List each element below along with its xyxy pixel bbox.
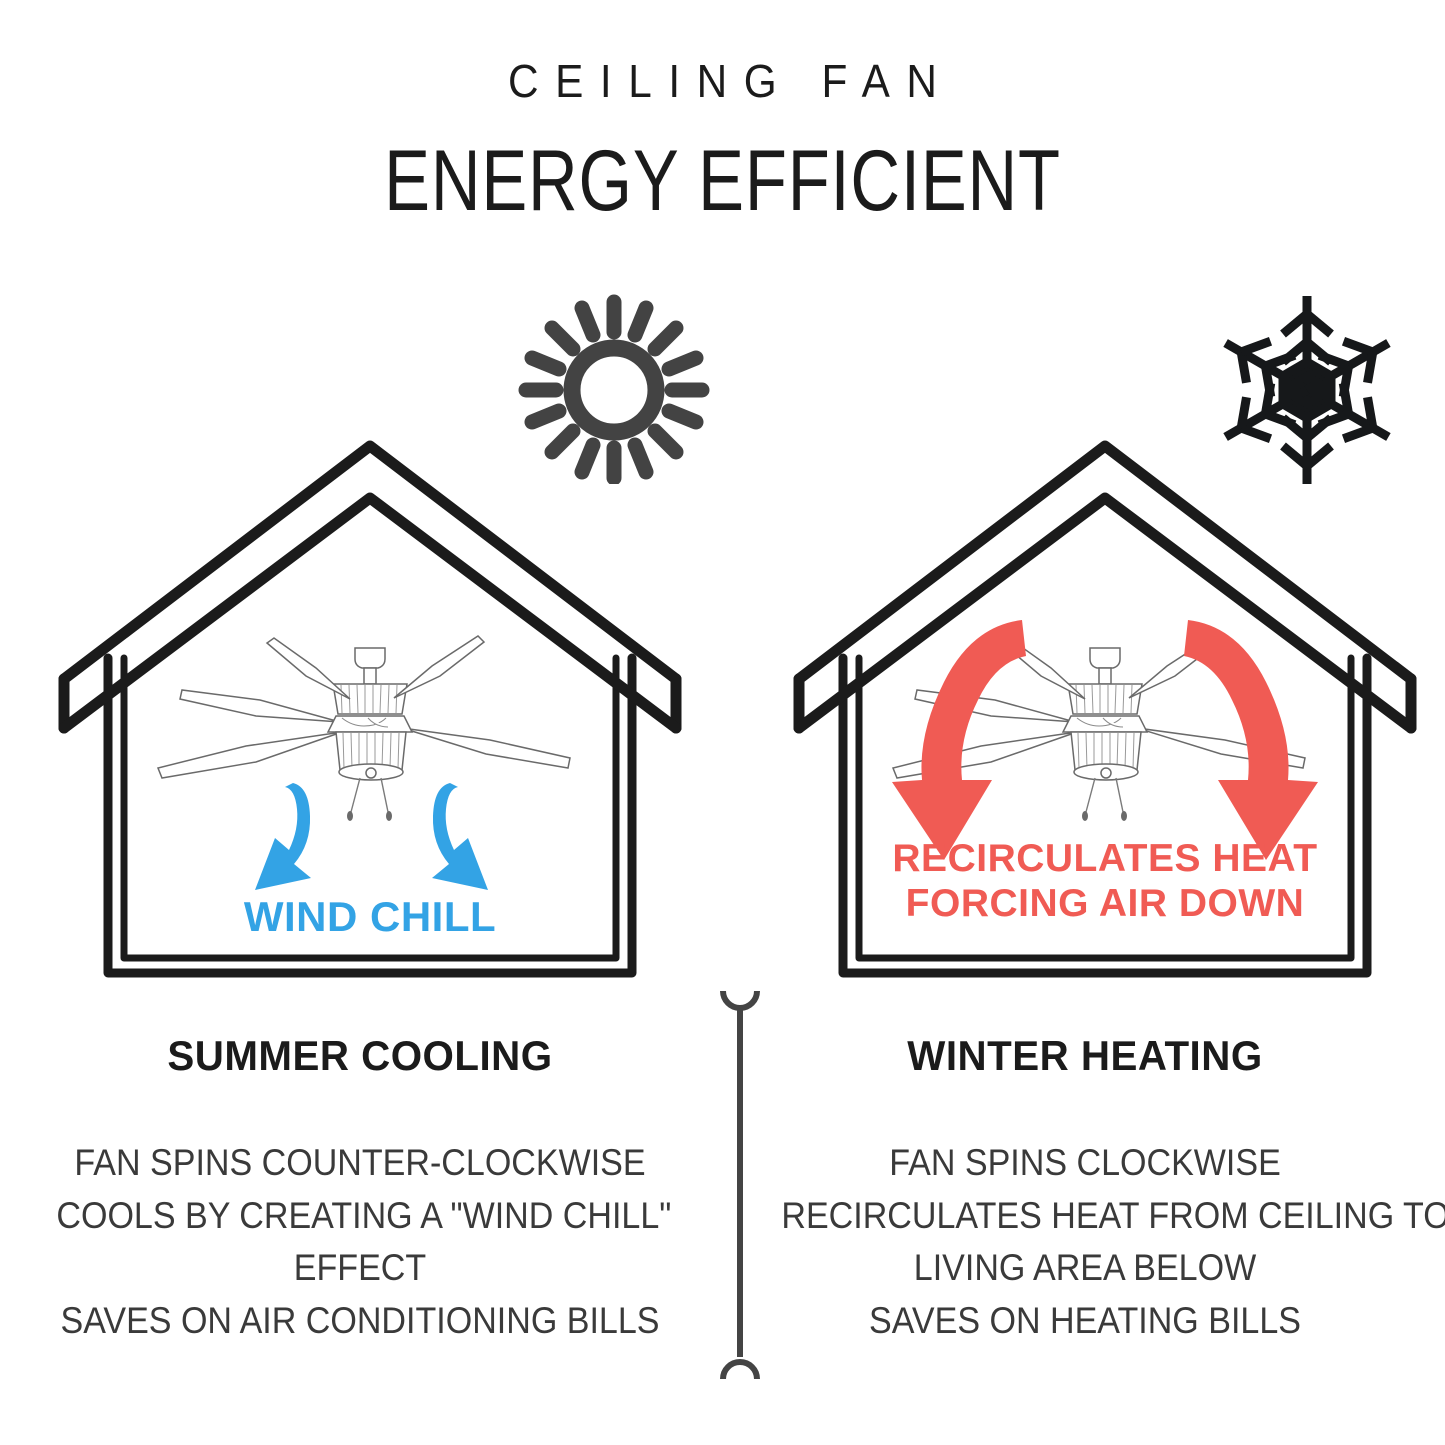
ceiling-fan-summer (158, 636, 570, 821)
winter-body-line-3: LIVING AREA BELOW (781, 1242, 1388, 1295)
summer-cooling-title: SUMMER COOLING (43, 1035, 677, 1077)
winter-body-line-1: FAN SPINS CLOCKWISE (781, 1137, 1388, 1190)
winter-heating-body: FAN SPINS CLOCKWISE RECIRCULATES HEAT FR… (781, 1137, 1388, 1347)
recirculates-heat-label: RECIRCULATES HEAT FORCING AIR DOWN (785, 836, 1425, 926)
text-column-summer: SUMMER COOLING FAN SPINS COUNTER-CLOCKWI… (30, 1035, 690, 1347)
summer-body-line-4: SAVES ON AIR CONDITIONING BILLS (56, 1295, 663, 1348)
page-title: ENERGY EFFICIENT (145, 138, 1301, 224)
kicker-text: CEILING FAN (58, 58, 1387, 104)
summer-body-line-2: COOLS BY CREATING A "WIND CHILL" (56, 1190, 663, 1243)
winter-heating-title: WINTER HEATING (768, 1035, 1402, 1077)
airflow-arrow-right-summer (432, 783, 488, 890)
recirculates-heat-line1: RECIRCULATES HEAT (785, 836, 1425, 881)
house-summer: WIND CHILL (50, 440, 690, 1000)
airflow-arrow-left-winter (892, 620, 1026, 860)
summer-cooling-body: FAN SPINS COUNTER-CLOCKWISE COOLS BY CRE… (56, 1137, 663, 1347)
winter-body-line-4: SAVES ON HEATING BILLS (781, 1295, 1388, 1348)
summer-body-line-1: FAN SPINS COUNTER-CLOCKWISE (56, 1137, 663, 1190)
header: CEILING FAN ENERGY EFFICIENT (0, 0, 1445, 224)
airflow-arrow-left-summer (255, 783, 311, 890)
wind-chill-label: WIND CHILL (50, 893, 690, 942)
infographic-canvas: CEILING FAN ENERGY EFFICIENT (0, 0, 1445, 1445)
winter-body-line-2: RECIRCULATES HEAT FROM CEILING TO (781, 1190, 1388, 1243)
text-column-winter: WINTER HEATING FAN SPINS CLOCKWISE RECIR… (755, 1035, 1415, 1347)
house-winter: RECIRCULATES HEAT FORCING AIR DOWN (785, 440, 1425, 1000)
recirculates-heat-line2: FORCING AIR DOWN (785, 881, 1425, 926)
summer-body-line-3: EFFECT (56, 1242, 663, 1295)
